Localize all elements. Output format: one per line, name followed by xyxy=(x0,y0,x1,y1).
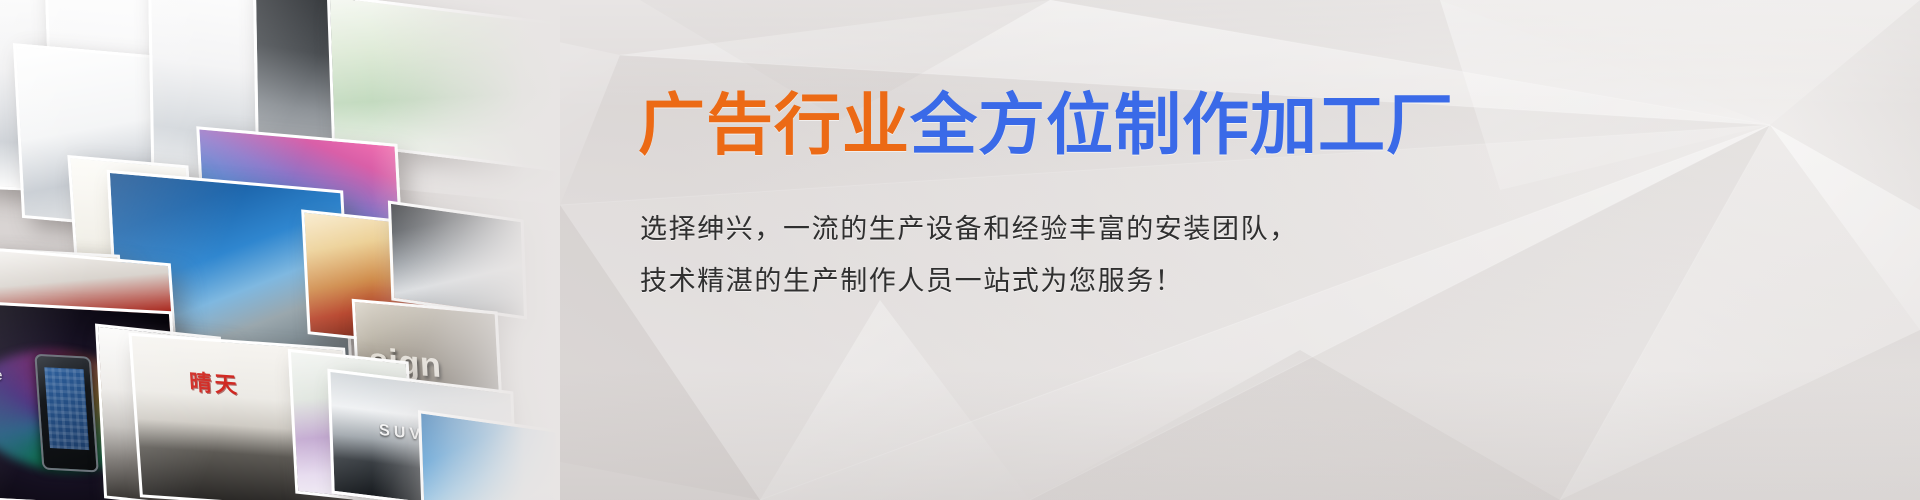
subtitle-line-1: 选择绅兴，一流的生产设备和经验丰富的安装团队， xyxy=(640,216,1540,243)
photo-blue-gradient-sign xyxy=(418,410,560,500)
photo-collage: sign iPhone 晴天 xyxy=(0,0,560,500)
photo-car-billboard xyxy=(388,200,527,319)
subtitle-line-2: 技术精湛的生产制作人员一站式为您服务！ xyxy=(640,268,1540,295)
promo-banner: sign iPhone 晴天 xyxy=(0,0,1920,500)
headline-orange-part: 广告行业 xyxy=(638,88,910,163)
page-title: 广告行业全方位制作加工厂 xyxy=(638,92,1540,160)
banner-text-block: 广告行业全方位制作加工厂 选择绅兴，一流的生产设备和经验丰富的安装团队， 技术精… xyxy=(640,92,1540,295)
storefront-red-characters: 晴天 xyxy=(188,365,241,400)
headline-blue-part: 全方位制作加工厂 xyxy=(910,88,1454,163)
